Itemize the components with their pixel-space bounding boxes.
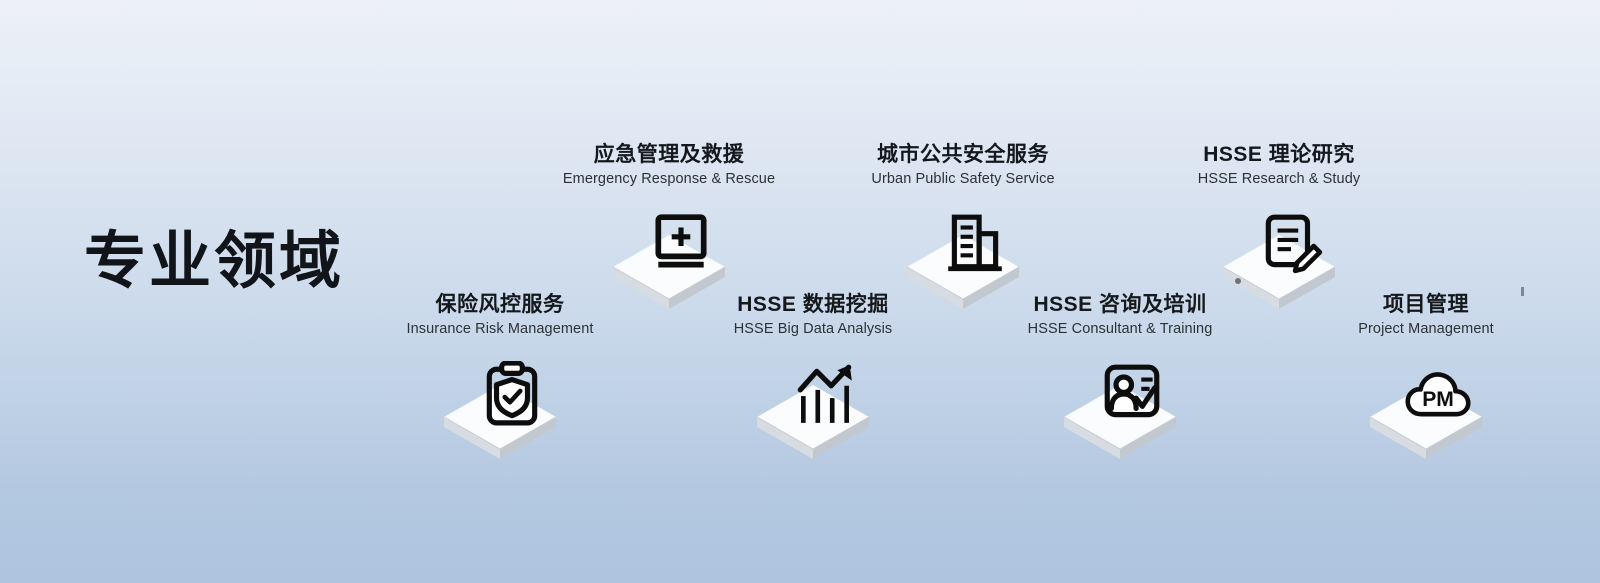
item-label-en: HSSE Big Data Analysis: [663, 320, 963, 339]
item-project-management[interactable]: 项目管理 Project Management PM: [1276, 292, 1576, 471]
item-artwork: [350, 351, 650, 471]
item-label-cn: HSSE 咨询及培训: [970, 292, 1270, 317]
professional-fields-banner: 专业领域 应急管理及救援 Emergency Response & Rescue: [0, 0, 1600, 583]
item-label-en: Insurance Risk Management: [350, 320, 650, 339]
item-labels: 城市公共安全服务 Urban Public Safety Service: [813, 142, 1113, 189]
item-insurance-risk[interactable]: 保险风控服务 Insurance Risk Management: [350, 292, 650, 471]
item-labels: HSSE 数据挖掘 HSSE Big Data Analysis: [663, 292, 963, 339]
item-label-cn: 项目管理: [1276, 292, 1576, 317]
monitor-plus-icon: [648, 211, 714, 277]
item-artwork: [663, 351, 963, 471]
item-label-en: Project Management: [1276, 320, 1576, 339]
item-labels: HSSE 咨询及培训 HSSE Consultant & Training: [970, 292, 1270, 339]
page-title: 专业领域: [84, 228, 344, 296]
item-label-en: HSSE Consultant & Training: [970, 320, 1270, 339]
item-artwork: PM: [1276, 351, 1576, 471]
item-hsse-big-data[interactable]: HSSE 数据挖掘 HSSE Big Data Analysis: [663, 292, 963, 471]
item-artwork: [970, 351, 1270, 471]
item-label-cn: 应急管理及救援: [519, 142, 819, 167]
id-card-person-check-icon: [1099, 361, 1165, 427]
item-label-en: Emergency Response & Rescue: [519, 170, 819, 189]
svg-text:PM: PM: [1422, 388, 1454, 411]
item-label-cn: HSSE 数据挖掘: [663, 292, 963, 317]
cloud-pm-icon: PM: [1405, 361, 1471, 427]
item-labels: 项目管理 Project Management: [1276, 292, 1576, 339]
item-labels: HSSE 理论研究 HSSE Research & Study: [1129, 142, 1429, 189]
item-label-cn: HSSE 理论研究: [1129, 142, 1429, 167]
item-labels: 保险风控服务 Insurance Risk Management: [350, 292, 650, 339]
item-hsse-consultant[interactable]: HSSE 咨询及培训 HSSE Consultant & Training: [970, 292, 1270, 471]
item-label-cn: 城市公共安全服务: [813, 142, 1113, 167]
clipboard-shield-check-icon: [479, 361, 545, 427]
bar-chart-trend-up-icon: [792, 361, 858, 427]
artifact-speck: [1521, 287, 1524, 296]
item-label-cn: 保险风控服务: [350, 292, 650, 317]
item-label-en: HSSE Research & Study: [1129, 170, 1429, 189]
document-pencil-icon: [1258, 211, 1324, 277]
item-labels: 应急管理及救援 Emergency Response & Rescue: [519, 142, 819, 189]
city-buildings-icon: [942, 211, 1008, 277]
item-label-en: Urban Public Safety Service: [813, 170, 1113, 189]
